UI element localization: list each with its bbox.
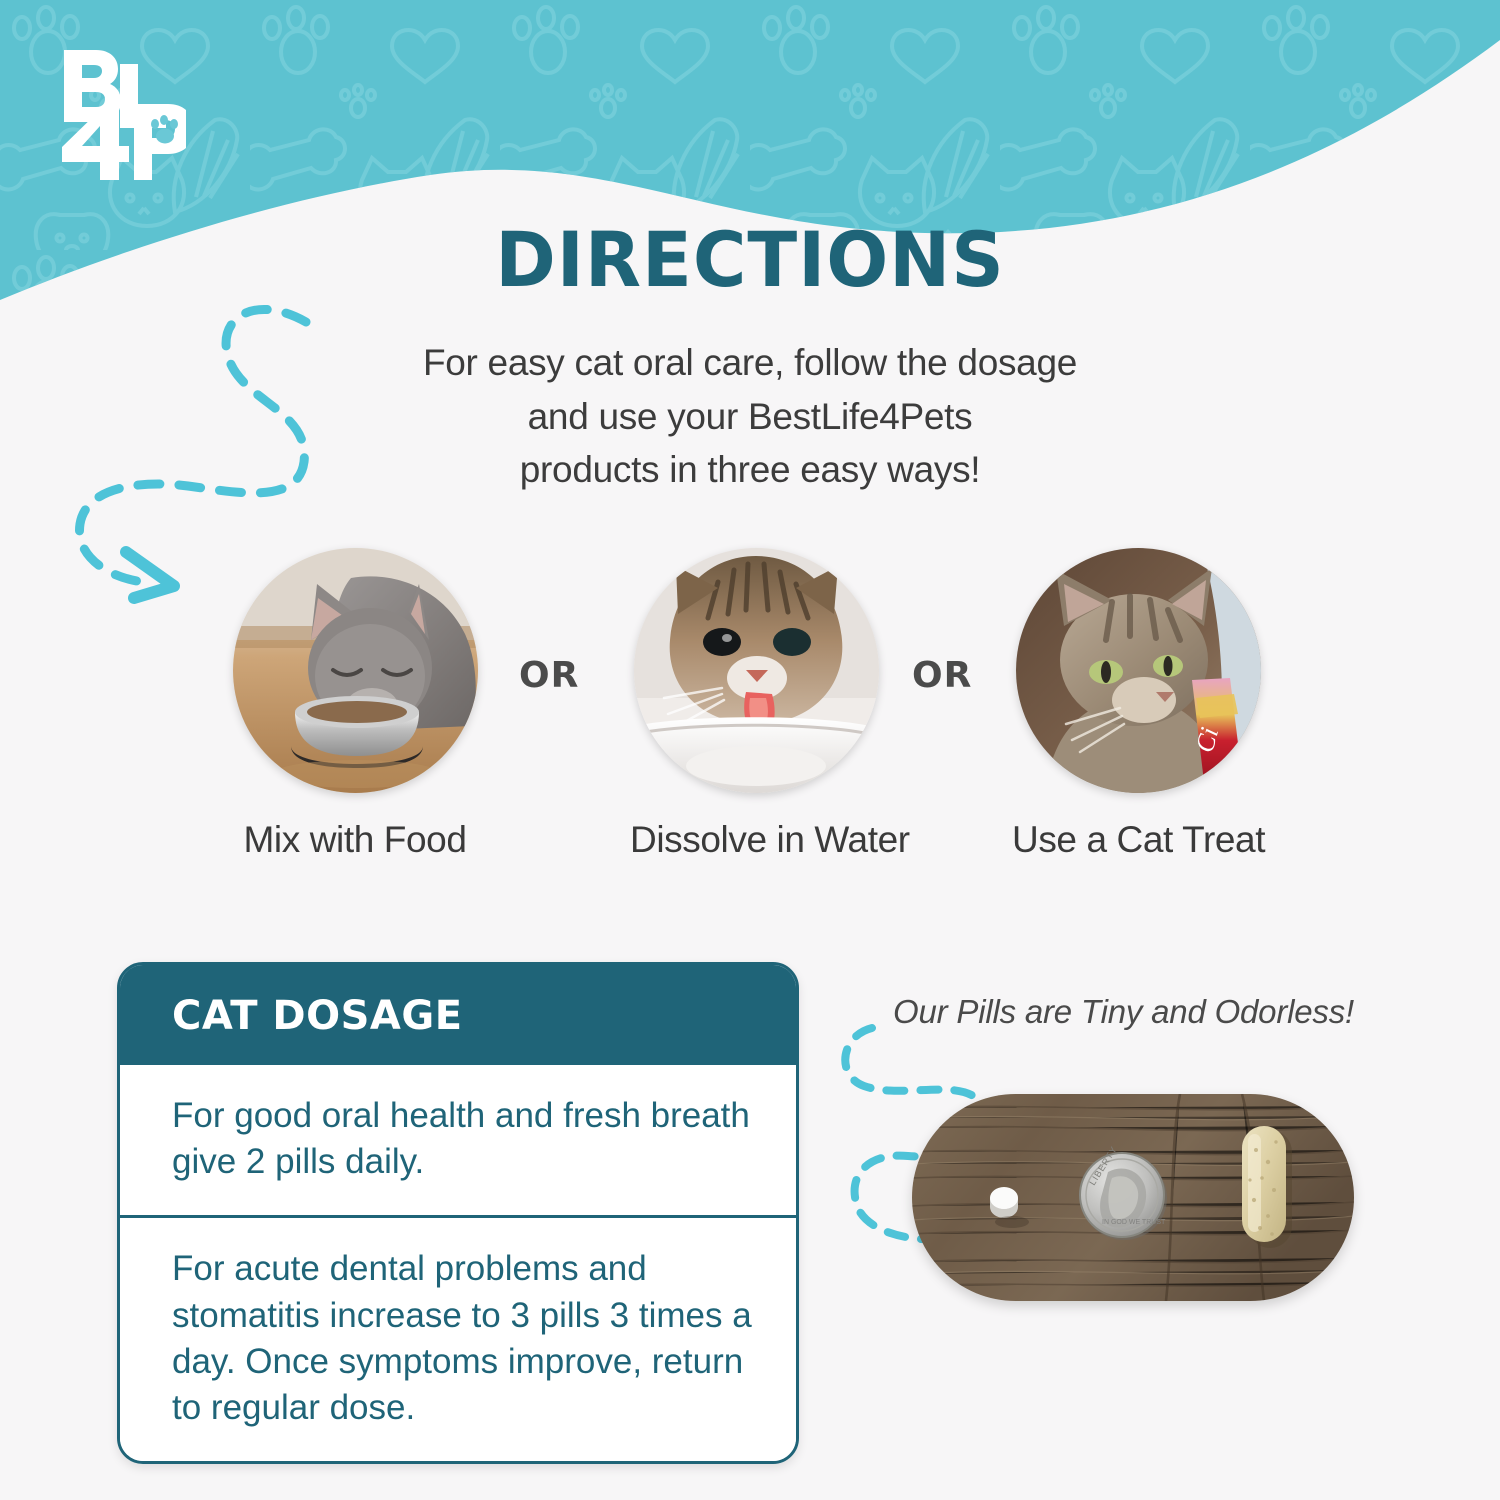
or-separator-2: OR	[912, 655, 972, 696]
subtitle-line-1: For easy cat oral care, follow the dosag…	[300, 336, 1200, 390]
usage-method-label: Mix with Food	[229, 819, 481, 861]
brand-logo	[56, 44, 186, 184]
pill-size-comparison-photo: LIBERTY IN GOD WE TRUST	[912, 1094, 1354, 1301]
or-separator-1: OR	[519, 655, 579, 696]
cat-dosage-card: CAT DOSAGE For good oral health and fres…	[117, 962, 799, 1464]
dosage-row-regular: For good oral health and fresh breath gi…	[120, 1065, 796, 1215]
usage-method-label: Use a Cat Treat	[1012, 819, 1264, 861]
usage-method-mix-with-food: Mix with Food	[229, 548, 481, 861]
usage-method-use-a-cat-treat: Ci Use a Cat Treat	[1012, 548, 1264, 861]
usage-methods-row: Mix with Food	[0, 548, 1500, 878]
dosage-card-heading: CAT DOSAGE	[120, 965, 796, 1065]
cat-drinking-water-photo	[634, 548, 879, 793]
subtitle-line-3: products in three easy ways!	[300, 443, 1200, 497]
svg-text:IN GOD WE TRUST: IN GOD WE TRUST	[1102, 1219, 1166, 1226]
page-subtitle: For easy cat oral care, follow the dosag…	[300, 336, 1200, 497]
dosage-row-acute: For acute dental problems and stomatitis…	[120, 1215, 796, 1461]
cat-eating-from-bowl-photo	[233, 548, 478, 793]
subtitle-line-2: and use your BestLife4Pets	[300, 390, 1200, 444]
usage-method-dissolve-in-water: Dissolve in Water	[630, 548, 882, 861]
cat-with-treat-tube-photo: Ci	[1016, 548, 1261, 793]
page-title: DIRECTIONS	[30, 222, 1470, 298]
usage-method-label: Dissolve in Water	[630, 819, 882, 861]
